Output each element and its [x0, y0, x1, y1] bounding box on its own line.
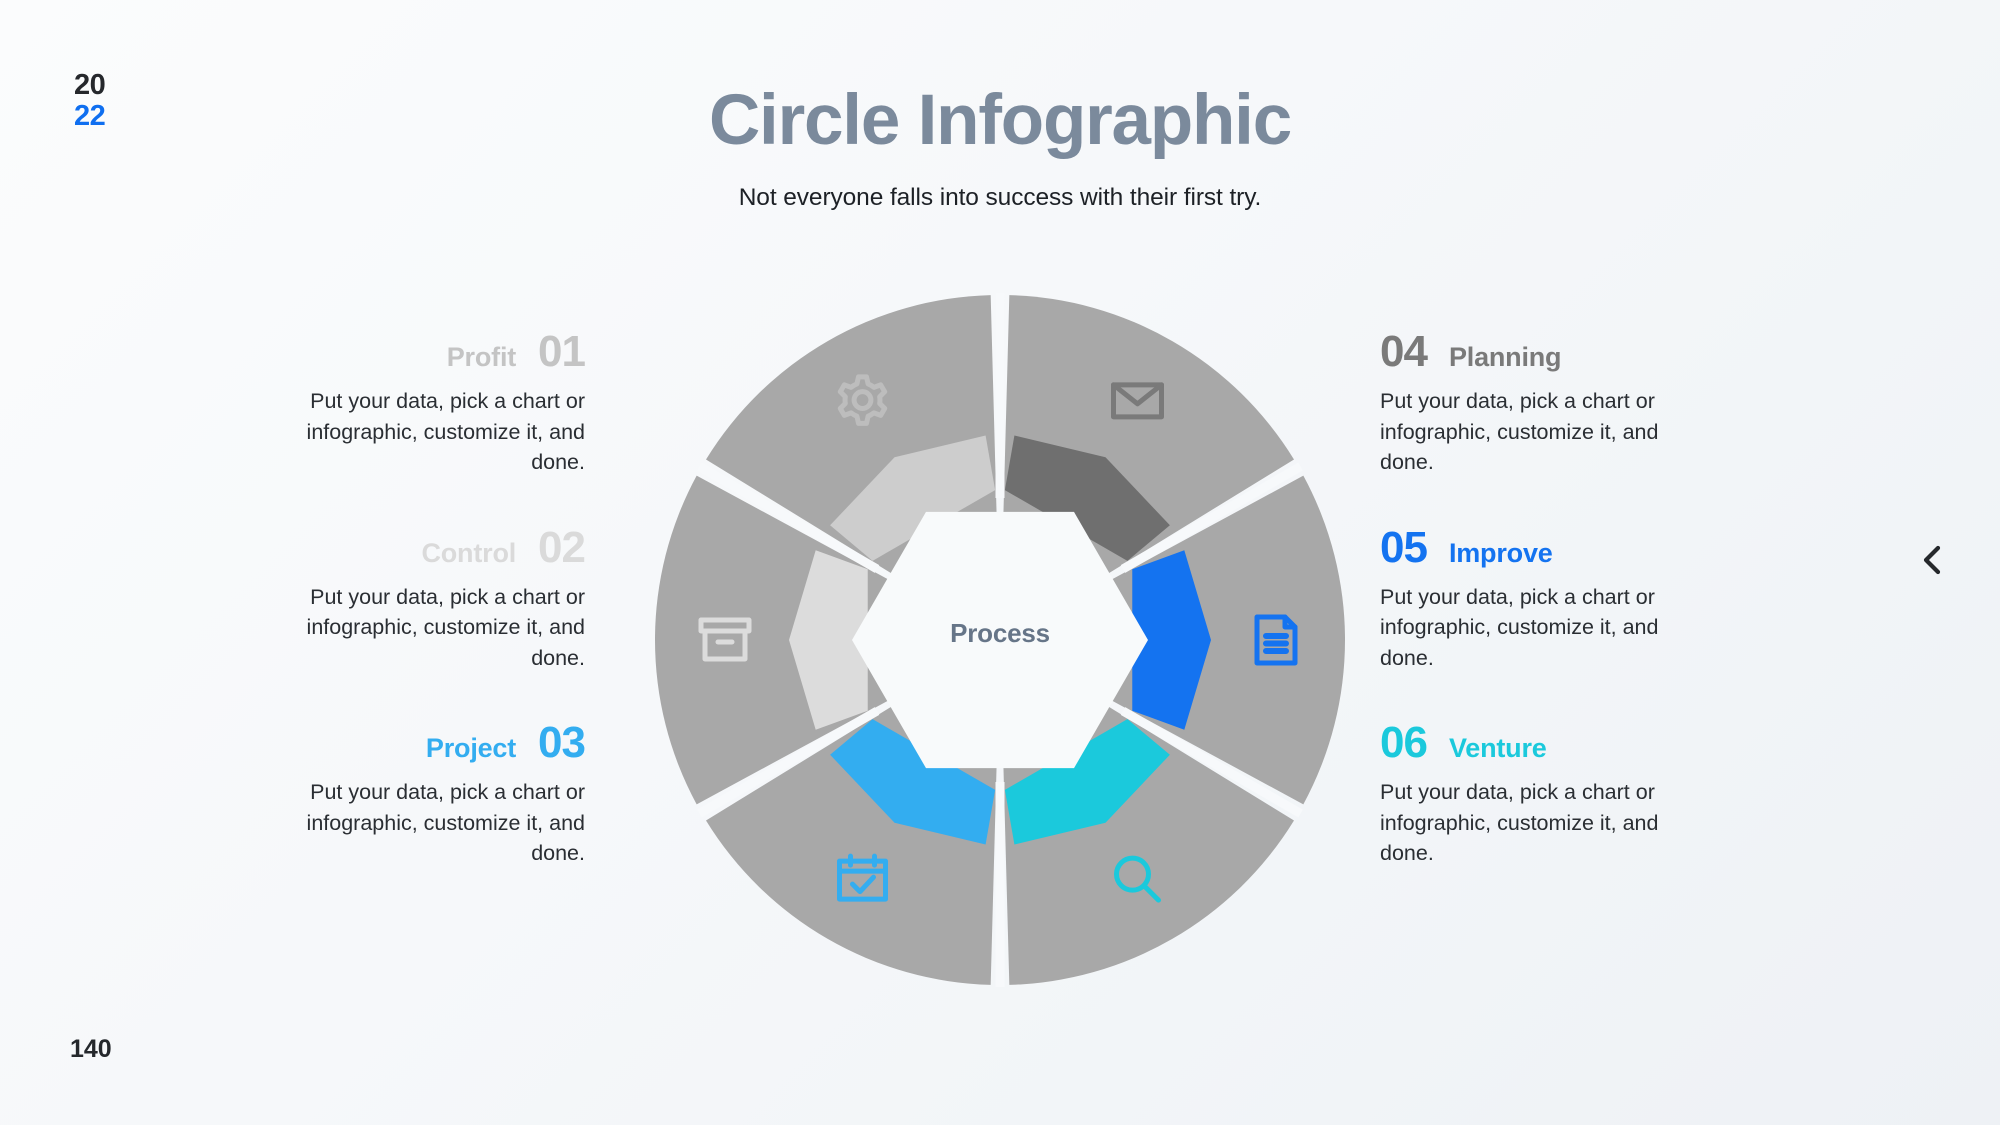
item-01-number: 01	[538, 330, 585, 374]
item-03-number: 03	[538, 721, 585, 765]
item-06-title: Venture	[1449, 733, 1547, 764]
item-05[interactable]: 05 Improve Put your data, pick a chart o…	[1380, 526, 1850, 674]
item-02-head: Control 02	[115, 526, 585, 570]
page-title: Circle Infographic	[0, 80, 2000, 162]
item-05-head: 05 Improve	[1380, 526, 1850, 570]
diagram-svg	[640, 280, 1360, 1000]
item-02-number: 02	[538, 526, 585, 570]
header: Circle Infographic Not everyone falls in…	[0, 80, 2000, 212]
item-03-title: Project	[426, 733, 516, 764]
item-02-title: Control	[421, 538, 516, 569]
item-01-head: Profit 01	[115, 330, 585, 374]
item-04-title: Planning	[1449, 342, 1561, 373]
item-06-description: Put your data, pick a chart or infograph…	[1380, 777, 1690, 869]
item-01-description: Put your data, pick a chart or infograph…	[275, 386, 585, 478]
chevron-left-icon	[1918, 543, 1946, 582]
item-03-head: Project 03	[115, 721, 585, 765]
page-number: 140	[70, 1035, 112, 1064]
item-02-description: Put your data, pick a chart or infograph…	[275, 582, 585, 674]
item-04[interactable]: 04 Planning Put your data, pick a chart …	[1380, 330, 1850, 478]
previous-slide-button[interactable]	[1910, 540, 1954, 584]
circle-infographic-diagram: Process	[640, 280, 1360, 1000]
item-06-head: 06 Venture	[1380, 721, 1850, 765]
items-column-left: Profit 01 Put your data, pick a chart or…	[115, 330, 585, 917]
page-subtitle: Not everyone falls into success with the…	[0, 184, 2000, 212]
item-01-title: Profit	[447, 342, 516, 373]
item-02[interactable]: Control 02 Put your data, pick a chart o…	[115, 526, 585, 674]
item-01[interactable]: Profit 01 Put your data, pick a chart or…	[115, 330, 585, 478]
item-03-description: Put your data, pick a chart or infograph…	[275, 777, 585, 869]
items-column-right: 04 Planning Put your data, pick a chart …	[1380, 330, 1850, 917]
item-04-description: Put your data, pick a chart or infograph…	[1380, 386, 1690, 478]
item-05-description: Put your data, pick a chart or infograph…	[1380, 582, 1690, 674]
item-04-head: 04 Planning	[1380, 330, 1850, 374]
item-05-number: 05	[1380, 526, 1427, 570]
item-04-number: 04	[1380, 330, 1427, 374]
item-06-number: 06	[1380, 721, 1427, 765]
item-03[interactable]: Project 03 Put your data, pick a chart o…	[115, 721, 585, 869]
item-05-title: Improve	[1449, 538, 1553, 569]
item-06[interactable]: 06 Venture Put your data, pick a chart o…	[1380, 721, 1850, 869]
